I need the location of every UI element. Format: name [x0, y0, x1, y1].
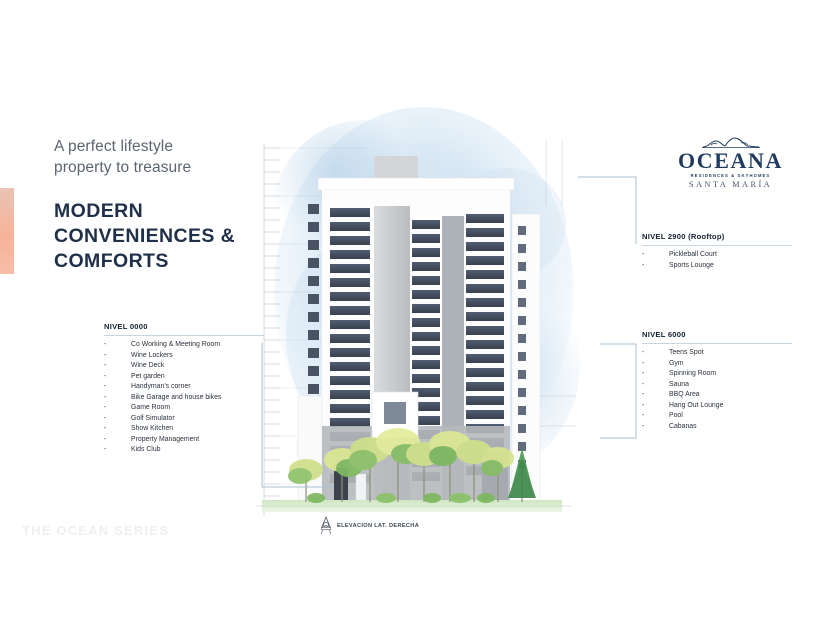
- list-item: -Sports Lounge: [642, 261, 792, 272]
- list-item-label: Sauna: [669, 380, 689, 391]
- bullet-dash: -: [642, 411, 669, 422]
- bullet-dash: -: [642, 261, 669, 272]
- list-item: -Gym: [642, 359, 792, 370]
- list-item: -Hang Out Lounge: [642, 401, 792, 412]
- list-item-label: Pet garden: [131, 372, 165, 383]
- bullet-dash: -: [642, 359, 669, 370]
- list-item-label: Co Working & Meeting Room: [131, 340, 220, 351]
- bullet-dash: -: [104, 414, 131, 425]
- callout-rule: [642, 343, 792, 344]
- list-item: -Game Room: [104, 403, 264, 414]
- logo-city: SANTA MARÍA: [668, 180, 793, 189]
- list-item: -Property Management: [104, 435, 264, 446]
- list-item-label: Kids Club: [131, 445, 161, 456]
- logo-name: OCEANA: [668, 150, 793, 172]
- bullet-dash: -: [104, 393, 131, 404]
- callout-title: NIVEL 0000: [104, 322, 264, 331]
- list-item: -Spinning Room: [642, 369, 792, 380]
- bullet-dash: -: [104, 424, 131, 435]
- list-item: -Pool: [642, 411, 792, 422]
- list-item-label: Handyman's corner: [131, 382, 191, 393]
- list-item-label: Sports Lounge: [669, 261, 714, 272]
- callout-nivel-6000[interactable]: NIVEL 6000 -Teens Spot -Gym -Spinning Ro…: [642, 330, 792, 432]
- plan-caption: ELEVACION LAT. DERECHA: [318, 516, 419, 536]
- list-item: -Bike Garage and house bikes: [104, 393, 264, 404]
- bullet-dash: -: [642, 380, 669, 391]
- list-item: -Cabanas: [642, 422, 792, 433]
- list-item: -Pet garden: [104, 372, 264, 383]
- list-item-label: Bike Garage and house bikes: [131, 393, 221, 404]
- list-item-label: Cabanas: [669, 422, 697, 433]
- plan-caption-text: ELEVACION LAT. DERECHA: [337, 523, 419, 529]
- list-item: -Teens Spot: [642, 348, 792, 359]
- elevation-svg: [246, 96, 594, 536]
- connector-n6000: [600, 344, 636, 438]
- bullet-dash: -: [104, 435, 131, 446]
- list-item-label: Spinning Room: [669, 369, 716, 380]
- bullet-dash: -: [642, 250, 669, 261]
- list-item-label: Show Kitchen: [131, 424, 173, 435]
- bullet-dash: -: [104, 372, 131, 383]
- watermark-text: THE OCEAN SERIES: [22, 523, 169, 538]
- list-item: -Sauna: [642, 380, 792, 391]
- list-item-label: Wine Deck: [131, 361, 164, 372]
- list-item-label: Game Room: [131, 403, 170, 414]
- list-item-label: Teens Spot: [669, 348, 703, 359]
- callout-list: -Pickleball Court -Sports Lounge: [642, 250, 792, 271]
- oceana-logo: OCEANA RESIDENCES & SKYHOMES SANTA MARÍA: [668, 136, 793, 189]
- callout-title: NIVEL 6000: [642, 330, 792, 339]
- bullet-dash: -: [642, 390, 669, 401]
- bullet-dash: -: [104, 382, 131, 393]
- list-item-label: Property Management: [131, 435, 199, 446]
- bullet-dash: -: [104, 445, 131, 456]
- list-item: -Kids Club: [104, 445, 264, 456]
- bullet-dash: -: [642, 348, 669, 359]
- list-item-label: Pickleball Court: [669, 250, 717, 261]
- callout-nivel-2900-rooftop[interactable]: NIVEL 2900 (Rooftop) -Pickleball Court -…: [642, 232, 792, 271]
- list-item-label: Gym: [669, 359, 684, 370]
- list-item-label: BBQ Area: [669, 390, 700, 401]
- callout-rule: [104, 335, 264, 336]
- bullet-dash: -: [642, 369, 669, 380]
- logo-tagline: RESIDENCES & SKYHOMES: [668, 173, 793, 178]
- slide-canvas: A perfect lifestyle property to treasure…: [0, 0, 840, 630]
- bullet-dash: -: [104, 351, 131, 362]
- bullet-dash: -: [104, 361, 131, 372]
- bullet-dash: -: [642, 401, 669, 412]
- list-item: -Pickleball Court: [642, 250, 792, 261]
- list-item: -Wine Lockers: [104, 351, 264, 362]
- list-item-label: Pool: [669, 411, 683, 422]
- building-elevation-rendering: [246, 96, 594, 536]
- callout-rule: [642, 245, 792, 246]
- list-item: -Golf Simulator: [104, 414, 264, 425]
- bullet-dash: -: [104, 403, 131, 414]
- left-accent-strip: [0, 188, 14, 274]
- list-item-label: Golf Simulator: [131, 414, 175, 425]
- north-arrow-icon: [318, 516, 334, 536]
- bullet-dash: -: [642, 422, 669, 433]
- list-item: -BBQ Area: [642, 390, 792, 401]
- list-item: -Wine Deck: [104, 361, 264, 372]
- callout-list: -Teens Spot -Gym -Spinning Room -Sauna -…: [642, 348, 792, 432]
- callout-title: NIVEL 2900 (Rooftop): [642, 232, 792, 241]
- list-item-label: Wine Lockers: [131, 351, 173, 362]
- callout-nivel-0000[interactable]: NIVEL 0000 -Co Working & Meeting Room -W…: [104, 322, 264, 456]
- callout-list: -Co Working & Meeting Room -Wine Lockers…: [104, 340, 264, 456]
- list-item: -Co Working & Meeting Room: [104, 340, 264, 351]
- list-item-label: Hang Out Lounge: [669, 401, 723, 412]
- list-item: -Handyman's corner: [104, 382, 264, 393]
- list-item: -Show Kitchen: [104, 424, 264, 435]
- bullet-dash: -: [104, 340, 131, 351]
